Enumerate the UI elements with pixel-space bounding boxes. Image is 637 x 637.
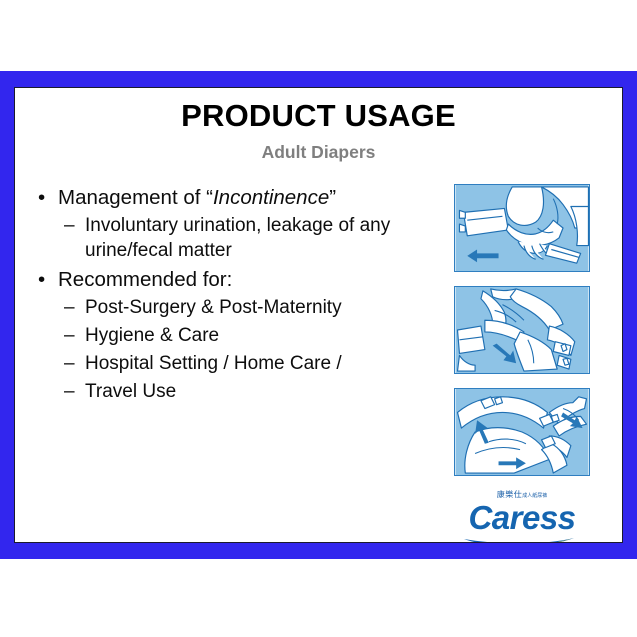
brand-logo: 康樂仕成人紙尿裤 Caress	[454, 490, 590, 543]
diaper-step-1-image	[454, 184, 590, 272]
list-item: – Involuntary urination, leakage of any …	[38, 213, 448, 263]
dash-marker-icon: –	[64, 379, 85, 404]
dash-marker-icon: –	[64, 323, 85, 348]
list-item: • Recommended for:	[38, 266, 448, 293]
brand-wordmark: Caress	[454, 501, 590, 535]
bullet-marker-icon: •	[38, 184, 58, 211]
list-item-label: Hospital Setting / Home Care /	[85, 351, 448, 376]
slide-canvas: PRODUCT USAGE Adult Diapers • Management…	[0, 0, 637, 637]
page-title: PRODUCT USAGE	[15, 98, 622, 134]
bullet-marker-icon: •	[38, 266, 58, 293]
list-item: – Travel Use	[38, 379, 448, 404]
list-item-label: Management of “Incontinence”	[58, 184, 448, 211]
dash-marker-icon: –	[64, 295, 85, 320]
list-item: – Hospital Setting / Home Care /	[38, 351, 448, 376]
brand-swoosh-icon	[462, 536, 582, 543]
list-item: • Management of “Incontinence”	[38, 184, 448, 211]
list-item-label: Hygiene & Care	[85, 323, 448, 348]
bullet-list: • Management of “Incontinence” – Involun…	[38, 184, 448, 408]
list-item-label: Recommended for:	[58, 266, 448, 293]
dash-marker-icon: –	[64, 213, 85, 238]
list-item: – Hygiene & Care	[38, 323, 448, 348]
diaper-step-2-image	[454, 286, 590, 374]
slide-content-panel: PRODUCT USAGE Adult Diapers • Management…	[14, 87, 623, 543]
page-subtitle: Adult Diapers	[15, 142, 622, 163]
list-item: – Post-Surgery & Post-Maternity	[38, 295, 448, 320]
slide-blue-frame: PRODUCT USAGE Adult Diapers • Management…	[0, 71, 637, 559]
list-item-label: Travel Use	[85, 379, 448, 404]
dash-marker-icon: –	[64, 351, 85, 376]
list-item-label: Involuntary urination, leakage of any ur…	[85, 213, 448, 263]
list-item-label: Post-Surgery & Post-Maternity	[85, 295, 448, 320]
diaper-step-3-image	[454, 388, 590, 476]
illustration-column: 康樂仕成人紙尿裤 Caress	[454, 184, 594, 543]
